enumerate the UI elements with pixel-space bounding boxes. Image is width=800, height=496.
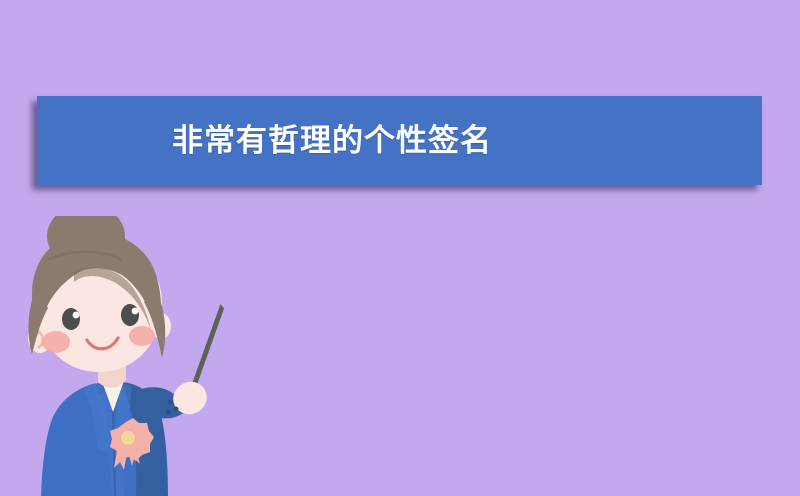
title-banner: 非常有哲理的个性签名 bbox=[37, 96, 762, 185]
left-blush bbox=[42, 331, 70, 353]
page-title: 非常有哲理的个性签名 bbox=[172, 125, 492, 156]
right-blush bbox=[129, 326, 155, 346]
left-eye bbox=[62, 308, 80, 330]
teacher-illustration bbox=[18, 216, 248, 496]
right-eye bbox=[121, 304, 139, 326]
slide-canvas: 非常有哲理的个性签名 bbox=[0, 0, 800, 496]
